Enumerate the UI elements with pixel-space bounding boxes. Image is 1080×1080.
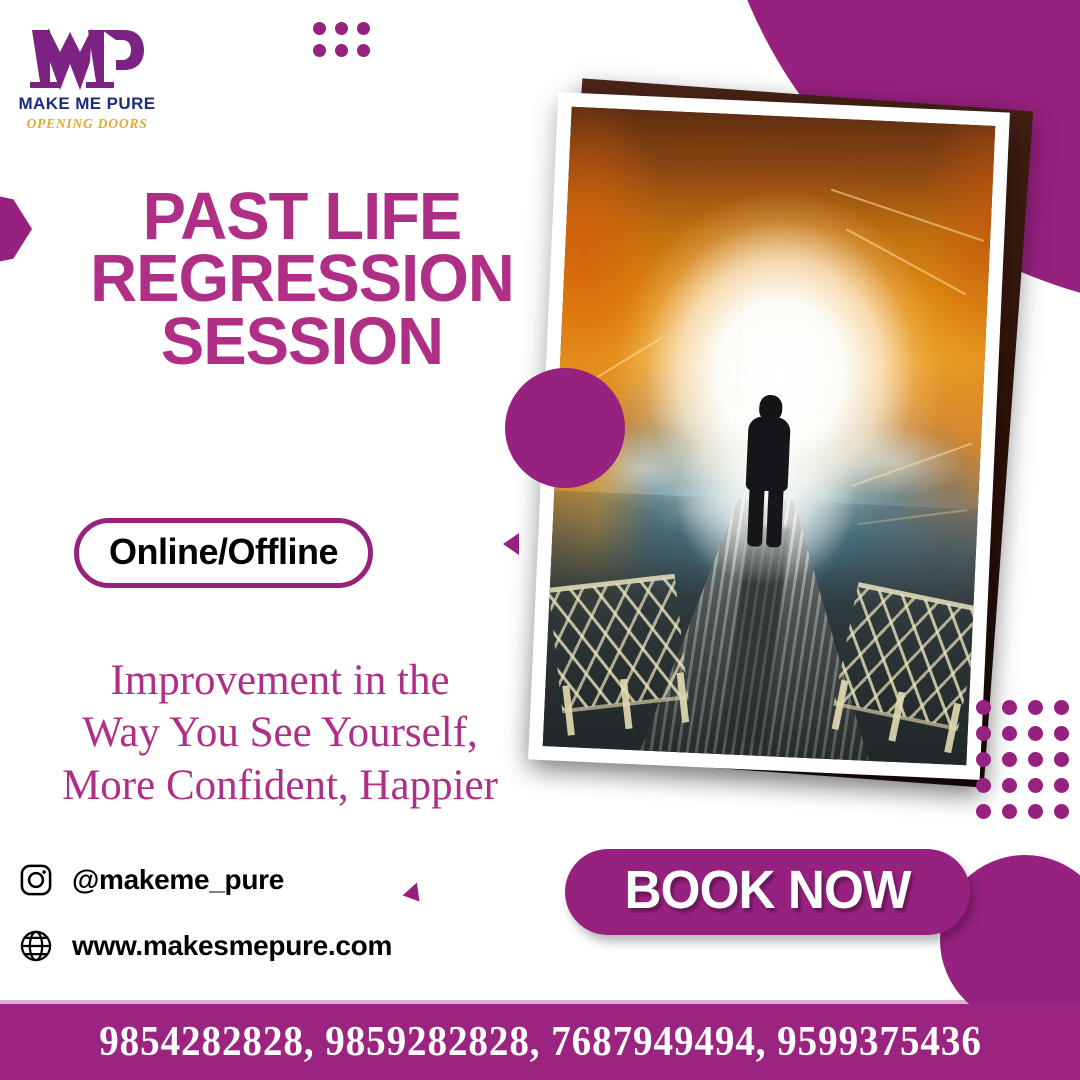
headline-line-2: REGRESSION: [69, 248, 535, 310]
instagram-handle: @makeme_pure: [72, 864, 284, 896]
contact-row-website[interactable]: www.makesmepure.com: [16, 926, 392, 966]
brand-tagline: OPENING DOORS: [18, 117, 156, 131]
brand-logo: MAKE ME PURE OPENING DOORS: [18, 18, 156, 142]
brand-name: MAKE ME PURE: [18, 95, 156, 112]
benefits-line-3: More Confident, Happier: [0, 760, 560, 812]
headline-line-1: PAST LIFE: [69, 186, 535, 248]
photo-railing-left: [547, 557, 692, 737]
circle-accent-middle: [505, 368, 625, 488]
hexagon-accent-left: [0, 190, 32, 268]
dot-grid-right: [976, 700, 1080, 830]
benefits-line-1: Improvement in the: [0, 655, 560, 707]
book-now-label: BOOK NOW: [625, 863, 911, 917]
book-now-button[interactable]: BOOK NOW: [565, 849, 970, 935]
mode-badge: Online/Offline: [74, 518, 373, 588]
poster-canvas: MAKE ME PURE OPENING DOORS PAST LIFE REG…: [0, 0, 1080, 1080]
contact-info: @makeme_pure www.makesmepure.com: [16, 860, 392, 992]
benefits-line-2: Way You See Yourself,: [0, 707, 560, 759]
headline-line-3: SESSION: [69, 311, 535, 373]
dot-grid-top: [313, 22, 379, 66]
phone-numbers: 9854282828, 9859282828, 7687949494, 9599…: [99, 1018, 982, 1066]
page-title: PAST LIFE REGRESSION SESSION: [62, 186, 542, 373]
triangle-accent-bottom: [403, 879, 426, 901]
footer-band: 9854282828, 9859282828, 7687949494, 9599…: [0, 1004, 1080, 1080]
globe-icon: [16, 926, 56, 966]
photo-walking-figure: [737, 394, 798, 546]
instagram-icon: [16, 860, 56, 900]
logo-monogram-icon: [18, 22, 156, 94]
mode-badge-label: Online/Offline: [109, 531, 338, 572]
contact-row-instagram[interactable]: @makeme_pure: [16, 860, 392, 900]
benefits-text: Improvement in the Way You See Yourself,…: [0, 655, 560, 812]
website-url: www.makesmepure.com: [72, 930, 392, 962]
triangle-accent-left: [503, 533, 519, 555]
